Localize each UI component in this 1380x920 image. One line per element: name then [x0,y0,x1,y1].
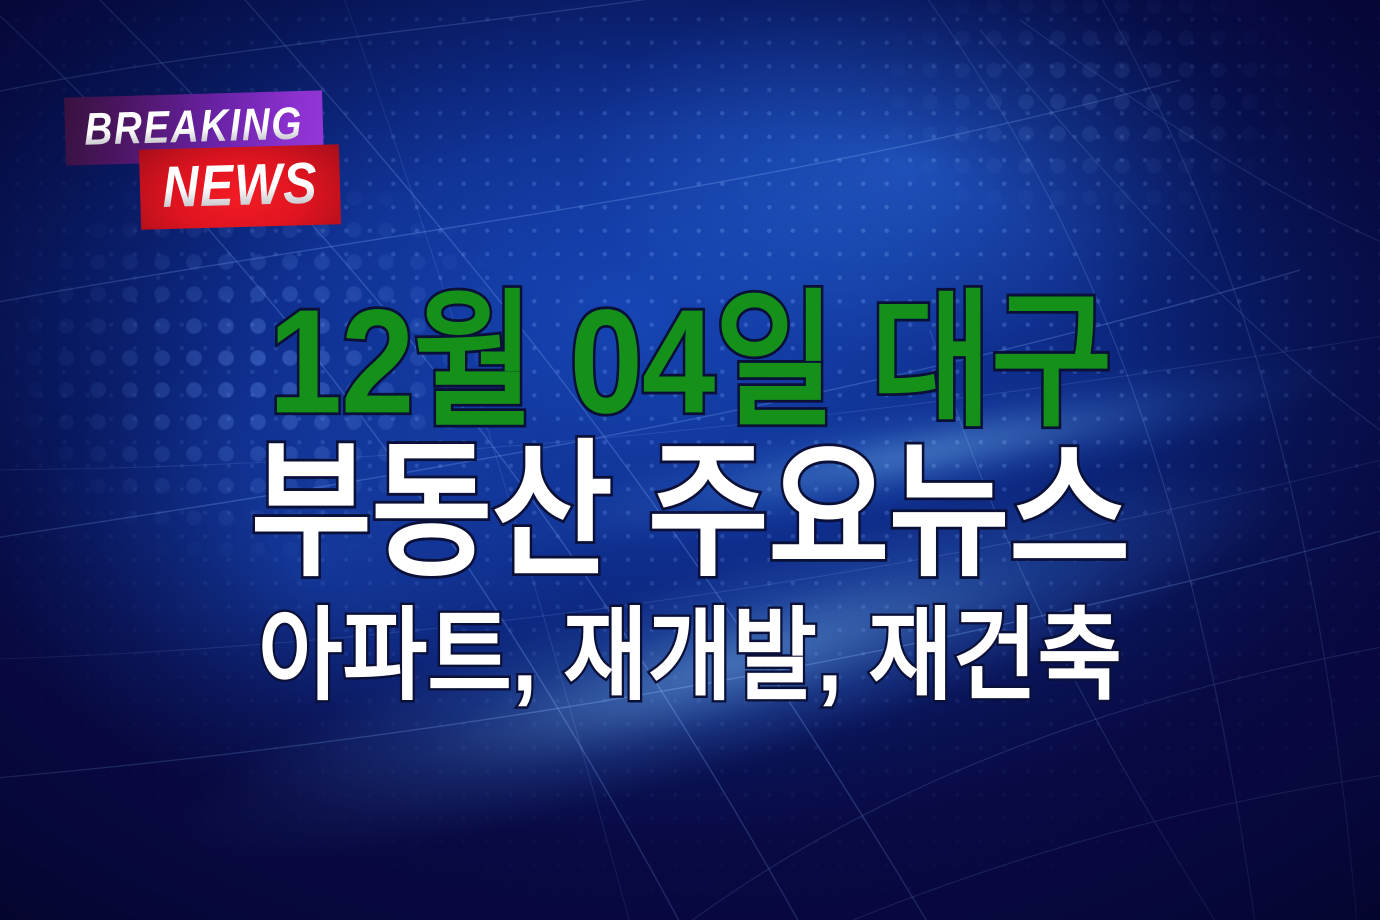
headline-line-main-topic: 부동산 주요뉴스 [0,438,1380,586]
headline-line-subtopics: 아파트, 재개발, 재건축 [0,606,1380,707]
headline-line-date-city: 12월 04일 대구 [0,288,1380,436]
headline-block: 12월 04일 대구 부동산 주요뉴스 아파트, 재개발, 재건축 [0,288,1380,698]
breaking-news-badge: BREAKING NEWS [60,90,330,250]
news-banner: NEWS [139,144,341,230]
news-label: NEWS [162,154,319,220]
breaking-news-graphic: BREAKING NEWS 12월 04일 대구 부동산 주요뉴스 아파트, 재… [0,0,1380,920]
